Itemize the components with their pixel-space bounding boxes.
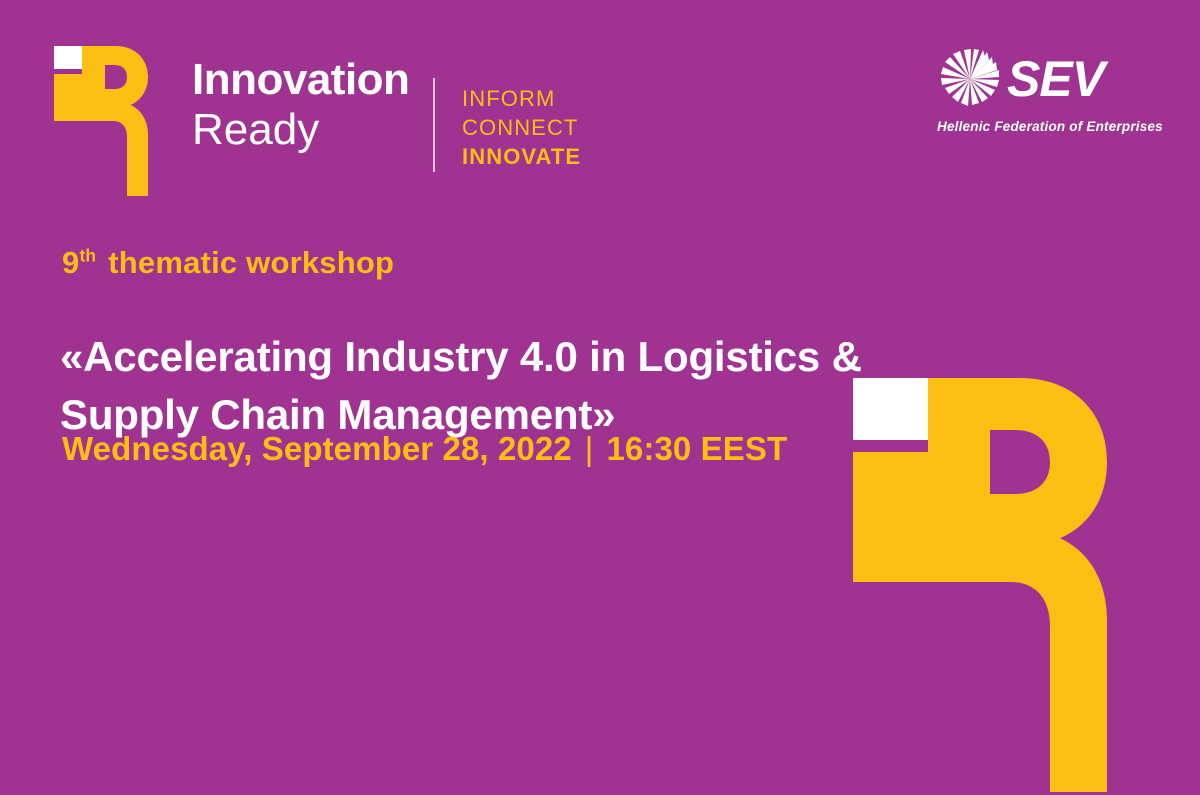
workshop-eyebrow-rest: thematic workshop xyxy=(108,245,394,280)
workshop-ordinal-suffix: th xyxy=(79,246,96,266)
banner-header: Innovation Ready INFORM CONNECT INNOVATE xyxy=(0,0,1200,210)
tagline-block: INFORM CONNECT INNOVATE xyxy=(462,84,581,171)
sev-subtitle: Hellenic Federation of Enterprises xyxy=(937,119,1142,134)
workshop-eyebrow: 9ththematic workshop xyxy=(62,245,394,281)
tagline-connect: CONNECT xyxy=(462,113,581,142)
innovation-ready-wordmark: Innovation Ready xyxy=(192,58,409,152)
event-time: 16:30 EEST xyxy=(606,430,787,467)
page-title: «Accelerating Industry 4.0 in Logistics … xyxy=(60,328,890,443)
sev-logo-row: SEV xyxy=(937,48,1142,110)
workshop-number: 9 xyxy=(62,245,79,280)
datetime-separator: | xyxy=(585,430,594,468)
event-date: Wednesday, September 28, 2022 xyxy=(62,430,572,467)
tagline-inform: INFORM xyxy=(462,84,581,113)
innovation-ready-logo: Innovation Ready xyxy=(52,44,409,199)
sev-wordmark: SEV xyxy=(1007,54,1104,104)
logo-word-innovation: Innovation xyxy=(192,58,409,102)
sev-logo: SEV Hellenic Federation of Enterprises xyxy=(937,48,1142,134)
header-vertical-divider xyxy=(433,78,435,172)
event-banner: Innovation Ready INFORM CONNECT INNOVATE xyxy=(0,0,1200,795)
sev-lion-head-icon xyxy=(937,48,1003,110)
tagline-innovate: INNOVATE xyxy=(462,142,581,171)
innovation-ready-r-mark-icon xyxy=(52,44,162,199)
background-r-mark-decoration xyxy=(845,370,1145,795)
event-datetime: Wednesday, September 28, 2022|16:30 EEST xyxy=(62,430,787,468)
logo-word-ready: Ready xyxy=(192,108,409,152)
